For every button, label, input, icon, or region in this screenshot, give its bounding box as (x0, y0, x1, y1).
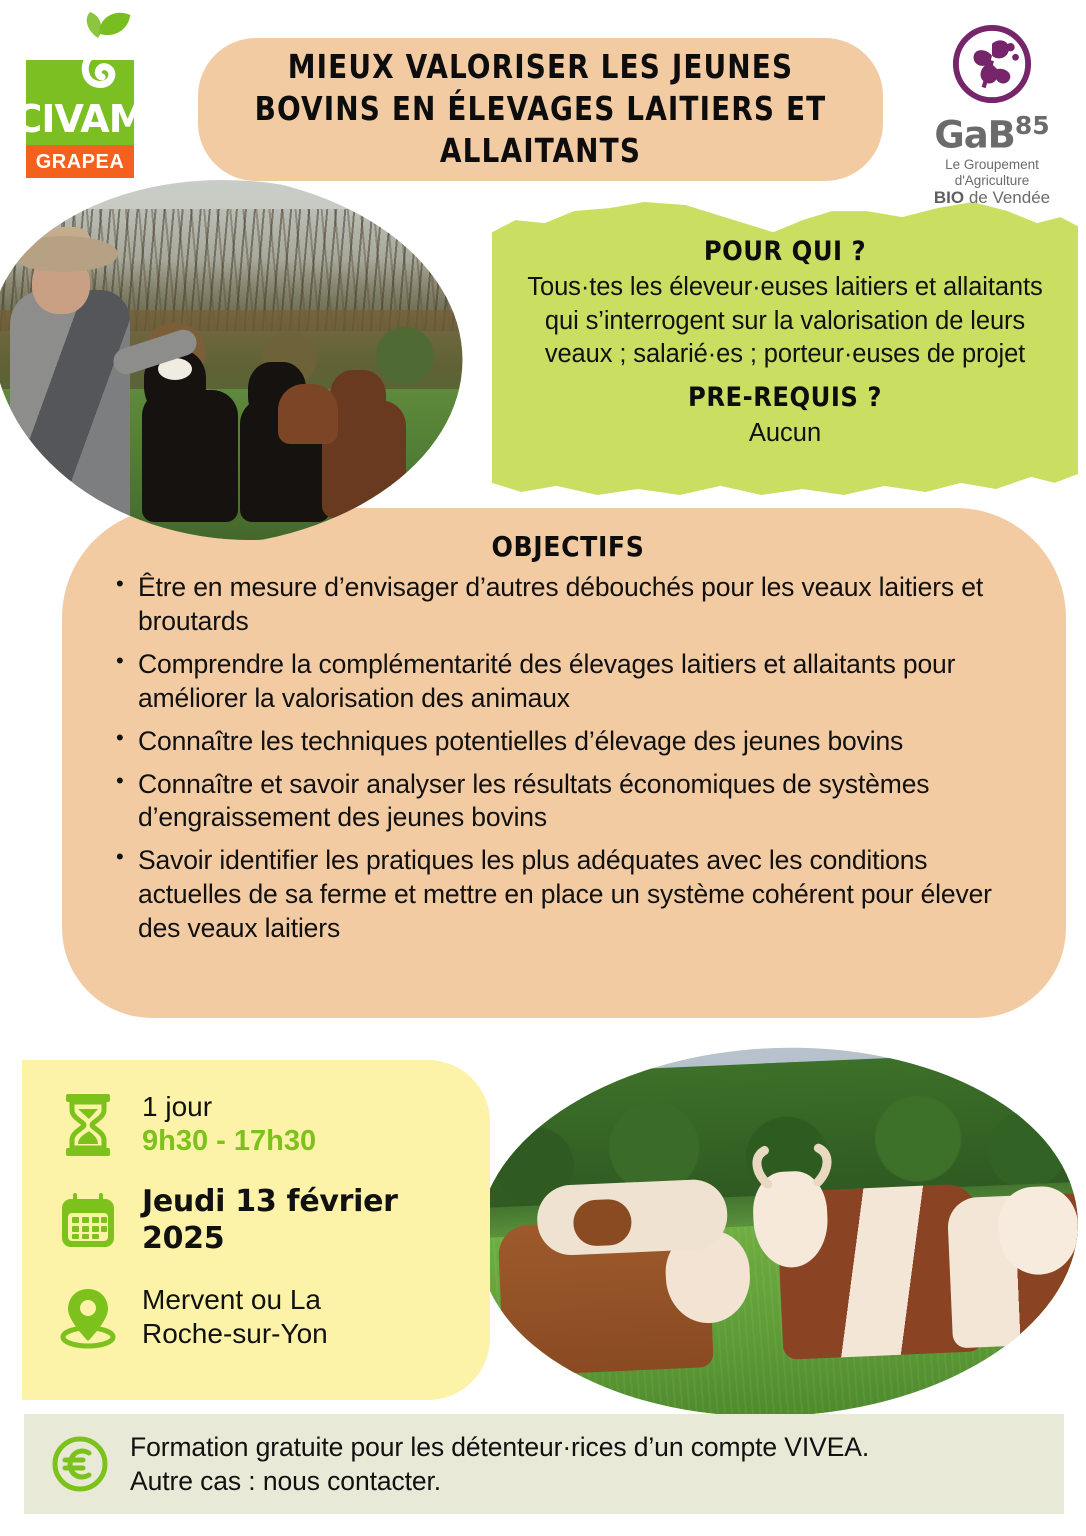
list-item: Savoir identifier les pratiques les plus… (114, 844, 1022, 946)
list-item: Être en mesure d’envisager d’autres débo… (114, 571, 1022, 639)
civam-grapea-logo: CIVAM GRAPEA (12, 8, 142, 183)
photo-farmer-hat-brim (10, 236, 118, 272)
duration-text: 1 jour 9h30 - 17h30 (142, 1090, 316, 1160)
photo-farmer-body (10, 290, 130, 540)
civam-wordmark: CIVAM (14, 100, 145, 145)
price-line1: Formation gratuite pour les détenteur·ri… (130, 1432, 869, 1462)
poster-root: CIVAM GRAPEA GaB85 Le Groupement d'Agric… (0, 0, 1086, 1536)
duration-row: 1 jour 9h30 - 17h30 (56, 1086, 468, 1164)
audience-body: Tous·tes les éleveur·euses laitiers et a… (512, 271, 1058, 372)
list-item: Connaître et savoir analyser les résulta… (114, 768, 1022, 836)
red-white-cattle-pasture-photo (470, 1035, 1085, 1429)
calendar-icon (56, 1182, 120, 1260)
location-pin-icon (56, 1278, 120, 1356)
gab-number: 85 (1015, 111, 1050, 140)
price-text: Formation gratuite pour les détenteur·ri… (130, 1430, 869, 1499)
session-details-panel: 1 jour 9h30 - 17h30 (22, 1060, 490, 1400)
objectives-list: Être en mesure d’envisager d’autres débo… (114, 571, 1022, 946)
objectives-panel: OBJECTIFS Être en mesure d’envisager d’a… (62, 508, 1066, 1018)
gab-tagline-line2: BIO de Vendée (912, 188, 1072, 208)
gab-text: GaB (934, 113, 1015, 156)
prerequisite-value: Aucun (512, 417, 1058, 450)
audience-heading: POUR QUI ? (512, 236, 1058, 267)
duration-hours: 9h30 - 17h30 (142, 1125, 316, 1157)
price-line2: Autre cas : nous contacter. (130, 1466, 441, 1496)
photo-cow (536, 1178, 729, 1256)
spiral-icon (70, 36, 132, 98)
gab-tagline-line1: Le Groupement d'Agriculture (912, 157, 1072, 188)
gab-wordmark: GaB85 (912, 113, 1072, 153)
grapea-wordmark: GRAPEA (36, 152, 125, 172)
title-banner: MIEUX VALORISER LES JEUNES BOVINS EN ÉLE… (198, 38, 883, 181)
session-date: Jeudi 13 février 2025 (142, 1184, 398, 1256)
audience-content: POUR QUI ? Tous·tes les éleveur·euses la… (492, 196, 1078, 498)
price-bar: Formation gratuite pour les détenteur·ri… (24, 1414, 1064, 1514)
location-text: Mervent ou La Roche-sur-Yon (142, 1283, 328, 1351)
gab-bio-word: BIO (934, 188, 964, 207)
location-line1: Mervent ou La (142, 1284, 321, 1315)
farmer-with-black-cattle-photo (0, 180, 472, 540)
photo-cow (278, 384, 338, 444)
euro-circle-icon (50, 1434, 110, 1494)
date-text: Jeudi 13 février 2025 (142, 1184, 468, 1257)
prerequisite-heading: PRE-REQUIS ? (512, 382, 1058, 413)
gab85-logo: GaB85 Le Groupement d'Agriculture BIO de… (912, 22, 1072, 192)
photo-cow-head (330, 370, 386, 434)
list-item: Comprendre la complémentarité des élevag… (114, 648, 1022, 716)
photo-cow-horns (736, 1141, 848, 1190)
location-row: Mervent ou La Roche-sur-Yon (56, 1278, 468, 1356)
list-item: Connaître les techniques potentielles d’… (114, 725, 1022, 759)
audience-panel: POUR QUI ? Tous·tes les éleveur·euses la… (492, 196, 1078, 498)
page-title: MIEUX VALORISER LES JEUNES BOVINS EN ÉLE… (243, 46, 838, 173)
location-line2: Roche-sur-Yon (142, 1318, 328, 1349)
civam-orange-box: GRAPEA (26, 145, 134, 178)
photo-cow-patch (572, 1198, 632, 1246)
date-row: Jeudi 13 février 2025 (56, 1182, 468, 1260)
gab-vendee-word: de Vendée (964, 188, 1050, 207)
hourglass-icon (56, 1086, 120, 1164)
flower-circle-icon (950, 22, 1034, 106)
duration-label: 1 jour (142, 1091, 212, 1122)
